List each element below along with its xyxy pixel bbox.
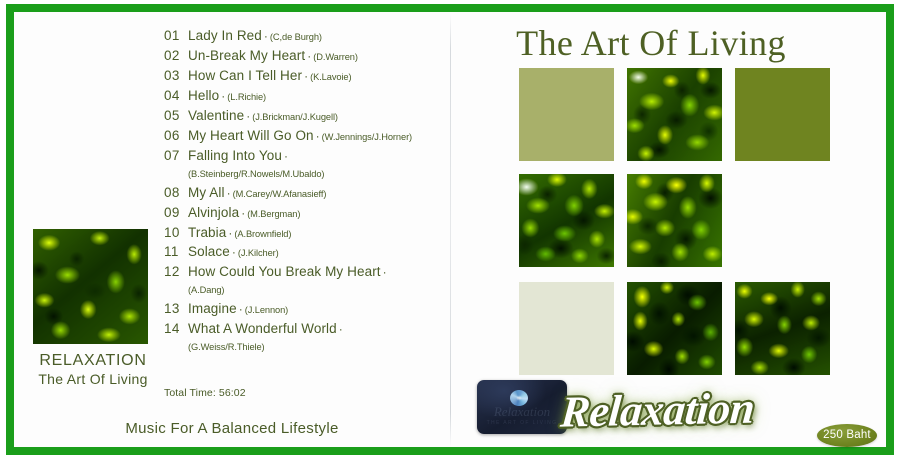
track-row: 09Alvinjola·(M.Bergman)	[164, 205, 454, 222]
track-title: My Heart Will Go On	[188, 128, 314, 143]
track-main-line: 02Un-Break My Heart·(D.Warren)	[164, 48, 454, 65]
foliage-photo-1	[627, 68, 722, 161]
track-separator-dot: ·	[282, 149, 290, 163]
track-separator-dot: ·	[230, 245, 238, 259]
track-main-line: 14What A Wonderful World·	[164, 321, 454, 338]
track-composer-wrapped-line: (G.Weiss/R.Thiele)	[164, 338, 454, 355]
track-main-line: 03How Can I Tell Her·(K.Lavoie)	[164, 68, 454, 85]
track-number: 05	[164, 109, 188, 123]
track-separator-dot: ·	[244, 109, 252, 123]
track-separator-dot: ·	[237, 302, 245, 316]
foliage-photo-4	[627, 282, 722, 375]
track-main-line: 11Solace·(J.Kilcher)	[164, 244, 454, 261]
foliage-photo-5	[735, 282, 830, 375]
track-number: 01	[164, 29, 188, 43]
track-row: 02Un-Break My Heart·(D.Warren)	[164, 48, 454, 65]
track-title: Un-Break My Heart	[188, 48, 305, 63]
cream-swatch	[519, 282, 614, 375]
track-row: 10Trabia·(A.Brownfield)	[164, 225, 454, 242]
track-row: 11Solace·(J.Kilcher)	[164, 244, 454, 261]
track-composer: (B.Steinberg/R.Nowels/M.Ubaldo)	[188, 169, 324, 179]
track-main-line: 08My All·(M.Carey/W.Afanasieff)	[164, 185, 454, 202]
back-panel: 01Lady In Red·(C,de Burgh)02Un-Break My …	[14, 12, 450, 447]
brand-name: RELAXATION	[28, 352, 158, 370]
track-separator-dot: ·	[337, 322, 345, 336]
track-row: 14What A Wonderful World·(G.Weiss/R.Thie…	[164, 321, 454, 355]
track-number: 03	[164, 69, 188, 83]
track-composer: (J.Brickman/J.Kugell)	[252, 112, 338, 122]
track-row: 01Lady In Red·(C,de Burgh)	[164, 28, 454, 45]
track-main-line: 13Imagine·(J.Lennon)	[164, 301, 454, 318]
track-title: Valentine	[188, 108, 244, 123]
track-title: Alvinjola	[188, 205, 239, 220]
back-caption: RELAXATION The Art Of Living	[28, 352, 158, 388]
disc-case-graphic: Relaxation THE ART OF LIVING	[477, 380, 567, 434]
track-main-line: 12How Could You Break My Heart·	[164, 264, 454, 281]
track-main-line: 05Valentine·(J.Brickman/J.Kugell)	[164, 108, 454, 125]
track-main-line: 09Alvinjola·(M.Bergman)	[164, 205, 454, 222]
track-row: 13Imagine·(J.Lennon)	[164, 301, 454, 318]
foliage-photo-2	[519, 174, 614, 267]
track-main-line: 04Hello·(L.Richie)	[164, 88, 454, 105]
track-row: 05Valentine·(J.Brickman/J.Kugell)	[164, 108, 454, 125]
track-title: Solace	[188, 244, 230, 259]
track-number: 04	[164, 89, 188, 103]
track-composer: (M.Carey/W.Afanasieff)	[233, 189, 327, 199]
track-composer: (K.Lavoie)	[310, 72, 351, 82]
cd-insert-scan: 01Lady In Red·(C,de Burgh)02Un-Break My …	[0, 0, 900, 459]
track-number: 14	[164, 322, 188, 336]
front-cover-title: The Art Of Living	[451, 22, 851, 64]
track-separator-dot: ·	[239, 206, 247, 220]
track-composer: (J.Lennon)	[245, 305, 288, 315]
relaxation-script-wordmark: Relaxation	[559, 381, 814, 438]
track-main-line: 10Trabia·(A.Brownfield)	[164, 225, 454, 242]
track-main-line: 06My Heart Will Go On·(W.Jennings/J.Horn…	[164, 128, 454, 145]
track-composer: (G.Weiss/R.Thiele)	[188, 342, 265, 352]
back-cover-thumbnail-foliage-photo	[33, 229, 148, 344]
track-separator-dot: ·	[262, 29, 270, 43]
track-number: 12	[164, 265, 188, 279]
track-composer: (D.Warren)	[313, 52, 358, 62]
album-subtitle: The Art Of Living	[28, 371, 158, 388]
disc-ghost-subtitle: THE ART OF LIVING	[485, 420, 559, 426]
track-title: What A Wonderful World	[188, 321, 337, 336]
track-title: Hello	[188, 88, 219, 103]
track-composer-wrapped-line: (A.Dang)	[164, 281, 454, 298]
olive-green-swatch	[735, 68, 830, 161]
track-row: 12How Could You Break My Heart·(A.Dang)	[164, 264, 454, 298]
track-main-line: 01Lady In Red·(C,de Burgh)	[164, 28, 454, 45]
track-row: 06My Heart Will Go On·(W.Jennings/J.Horn…	[164, 128, 454, 145]
track-main-line: 07Falling Into You·	[164, 148, 454, 165]
track-title: Falling Into You	[188, 148, 282, 163]
track-composer: (W.Jennings/J.Horner)	[322, 132, 412, 142]
tagline: Music For A Balanced Lifestyle	[14, 420, 450, 437]
track-composer: (M.Bergman)	[247, 209, 300, 219]
price-badge: 250 Baht	[817, 424, 877, 447]
track-separator-dot: ·	[225, 186, 233, 200]
track-separator-dot: ·	[381, 265, 389, 279]
track-row: 07Falling Into You·(B.Steinberg/R.Nowels…	[164, 148, 454, 182]
track-number: 11	[164, 245, 188, 259]
track-row: 03How Can I Tell Her·(K.Lavoie)	[164, 68, 454, 85]
track-title: How Could You Break My Heart	[188, 264, 381, 279]
track-number: 06	[164, 129, 188, 143]
track-title: My All	[188, 185, 225, 200]
disc-ghost-wordmark: Relaxation	[485, 404, 559, 420]
track-number: 10	[164, 226, 188, 240]
sage-green-swatch	[519, 68, 614, 161]
track-composer: (J.Kilcher)	[238, 248, 279, 258]
track-title: How Can I Tell Her	[188, 68, 302, 83]
photo-grid	[519, 68, 849, 388]
total-time-label: Total Time: 56:02	[164, 387, 246, 399]
track-composer-wrapped-line: (B.Steinberg/R.Nowels/M.Ubaldo)	[164, 165, 454, 182]
track-composer: (A.Brownfield)	[234, 229, 291, 239]
track-composer: (C,de Burgh)	[270, 32, 322, 42]
track-separator-dot: ·	[302, 69, 310, 83]
front-panel: The Art Of Living Relaxation THE ART OF …	[451, 12, 886, 447]
track-number: 07	[164, 149, 188, 163]
empty-cell	[735, 174, 830, 267]
track-title: Lady In Red	[188, 28, 262, 43]
track-separator-dot: ·	[314, 129, 322, 143]
track-composer: (L.Richie)	[227, 92, 266, 102]
track-number: 02	[164, 49, 188, 63]
track-number: 08	[164, 186, 188, 200]
track-row: 08My All·(M.Carey/W.Afanasieff)	[164, 185, 454, 202]
track-number: 13	[164, 302, 188, 316]
track-composer: (A.Dang)	[188, 285, 224, 295]
tracklist: 01Lady In Red·(C,de Burgh)02Un-Break My …	[164, 28, 454, 358]
track-number: 09	[164, 206, 188, 220]
foliage-photo-3	[627, 174, 722, 267]
track-title: Imagine	[188, 301, 237, 316]
track-row: 04Hello·(L.Richie)	[164, 88, 454, 105]
track-title: Trabia	[188, 225, 226, 240]
